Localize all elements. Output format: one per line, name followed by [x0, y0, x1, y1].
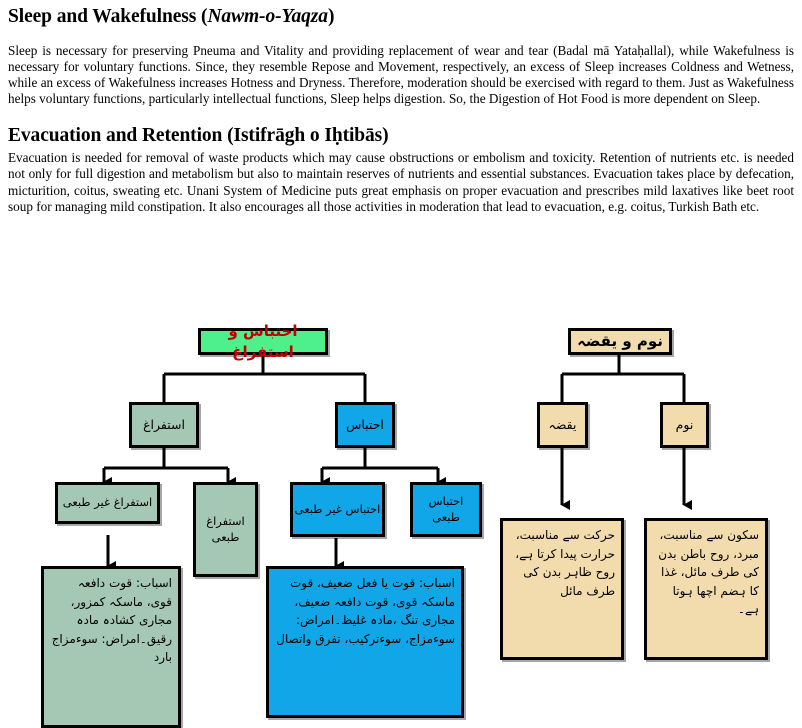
- node-istifragh-tabai[interactable]: استفراغ طبعی: [193, 482, 258, 577]
- detail-ihtibas-causes-diseases[interactable]: اسباب: قوت یا فعل ضعیف، قوت ماسکہ قوی، ق…: [266, 566, 464, 718]
- node-ihtibas[interactable]: احتباس: [335, 402, 395, 448]
- detail-yaqza-qualities[interactable]: حرکت سے مناسبت، حرارت پیدا کرتا ہے، روح …: [500, 518, 624, 660]
- node-label: احتباس غیر طبعی: [295, 502, 381, 518]
- node-label: استفراغ طبعی: [196, 514, 255, 545]
- sleep-wakefulness-paragraph: Sleep is necessary for preserving Pneuma…: [0, 43, 802, 107]
- node-nawm-wa-yaqza-root[interactable]: نوم و یقضہ: [568, 328, 672, 355]
- node-label: نوم و یقضہ: [577, 331, 663, 351]
- page-title-close-paren: ): [328, 6, 334, 27]
- section-heading-evacuation-retention: Evacuation and Retention (Istifrāgh o Iḥ…: [0, 125, 802, 147]
- node-label: نوم: [676, 417, 694, 434]
- node-label: احتباس: [346, 417, 384, 434]
- node-label: احتباس طبعی: [413, 494, 479, 525]
- node-ihtibas-ghair-tabai[interactable]: احتباس غیر طبعی: [290, 482, 385, 537]
- page-title-transliteration: Nawm-o-Yaqza: [207, 6, 328, 27]
- node-yaqza[interactable]: یقضہ: [537, 402, 588, 448]
- detail-text: اسباب: قوت دافعہ قوی، ماسکہ کمزور، مجاری…: [50, 574, 172, 667]
- detail-text: سکون سے مناسبت، مبرد، روح باطن بدن کی طر…: [653, 526, 759, 619]
- page-title-plain: Sleep and Wakefulness (: [8, 6, 207, 27]
- node-ihtibas-tabai[interactable]: احتباس طبعی: [410, 482, 482, 537]
- page-title: Sleep and Wakefulness (Nawm-o-Yaqza): [0, 0, 802, 28]
- node-label: یقضہ: [549, 417, 577, 434]
- detail-nawm-qualities[interactable]: سکون سے مناسبت، مبرد، روح باطن بدن کی طر…: [644, 518, 768, 660]
- node-ihtibas-wa-istifragh-root[interactable]: احتباس و استفراغ: [198, 328, 328, 355]
- detail-text: حرکت سے مناسبت، حرارت پیدا کرتا ہے، روح …: [509, 526, 615, 600]
- document-page: Sleep and Wakefulness (Nawm-o-Yaqza) Sle…: [0, 0, 802, 610]
- node-nawm[interactable]: نوم: [660, 402, 709, 448]
- node-istifragh[interactable]: استفراغ: [129, 402, 199, 448]
- detail-text: اسباب: قوت یا فعل ضعیف، قوت ماسکہ قوی، ق…: [275, 574, 455, 648]
- node-label: احتباس و استفراغ: [201, 321, 325, 362]
- detail-istifragh-causes-diseases[interactable]: اسباب: قوت دافعہ قوی، ماسکہ کمزور، مجاری…: [41, 566, 181, 728]
- node-label: استفراغ: [143, 417, 185, 434]
- evacuation-retention-paragraph: Evacuation is needed for removal of wast…: [0, 150, 802, 214]
- node-label: استفراغ غیر طبعی: [63, 495, 152, 511]
- unani-concept-diagram: احتباس و استفراغ استفراغ احتباس استفراغ …: [0, 310, 802, 610]
- node-istifragh-ghair-tabai[interactable]: استفراغ غیر طبعی: [55, 482, 160, 524]
